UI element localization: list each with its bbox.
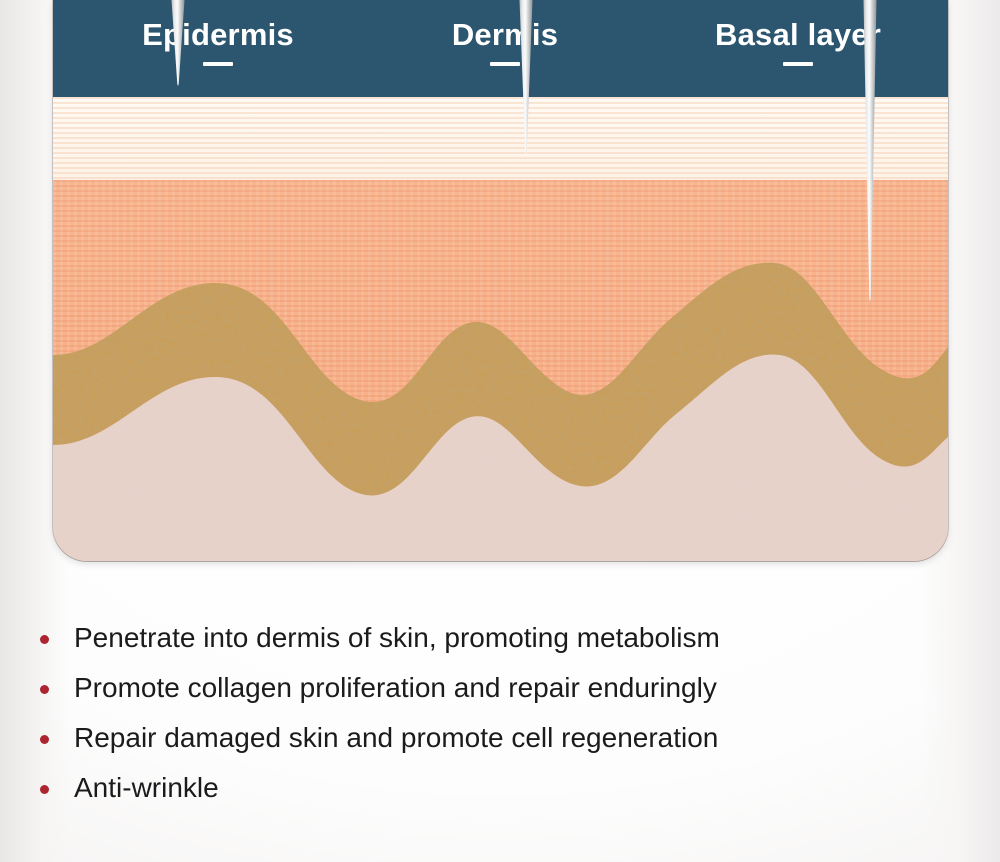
bullet-dot-icon xyxy=(40,635,49,644)
list-item: Penetrate into dermis of skin, promoting… xyxy=(40,620,960,670)
needle-shallow-icon xyxy=(161,0,195,180)
benefit-text: Penetrate into dermis of skin, promoting… xyxy=(74,620,720,656)
header-column-dermis: Dermis xyxy=(375,0,635,97)
needle-medium-icon xyxy=(509,0,543,240)
benefit-text: Anti-wrinkle xyxy=(74,770,219,806)
header-column-epidermis: Epidermis xyxy=(63,0,373,97)
header-column-basal-layer: Basal layer xyxy=(653,0,943,97)
benefit-text: Promote collagen proliferation and repai… xyxy=(74,670,717,706)
benefit-text: Repair damaged skin and promote cell reg… xyxy=(74,720,718,756)
header-underline-basal-layer xyxy=(783,62,813,66)
bullet-dot-icon xyxy=(40,735,49,744)
bullet-dot-icon xyxy=(40,785,49,794)
list-item: Repair damaged skin and promote cell reg… xyxy=(40,720,960,770)
list-item: Promote collagen proliferation and repai… xyxy=(40,670,960,720)
benefits-list: Penetrate into dermis of skin, promoting… xyxy=(40,620,960,820)
bullet-dot-icon xyxy=(40,685,49,694)
list-item: Anti-wrinkle xyxy=(40,770,960,820)
skin-diagram-card: Epidermis Dermis Basal layer xyxy=(53,0,948,561)
needle-deep-icon xyxy=(853,0,887,330)
header-underline-epidermis xyxy=(203,62,233,66)
